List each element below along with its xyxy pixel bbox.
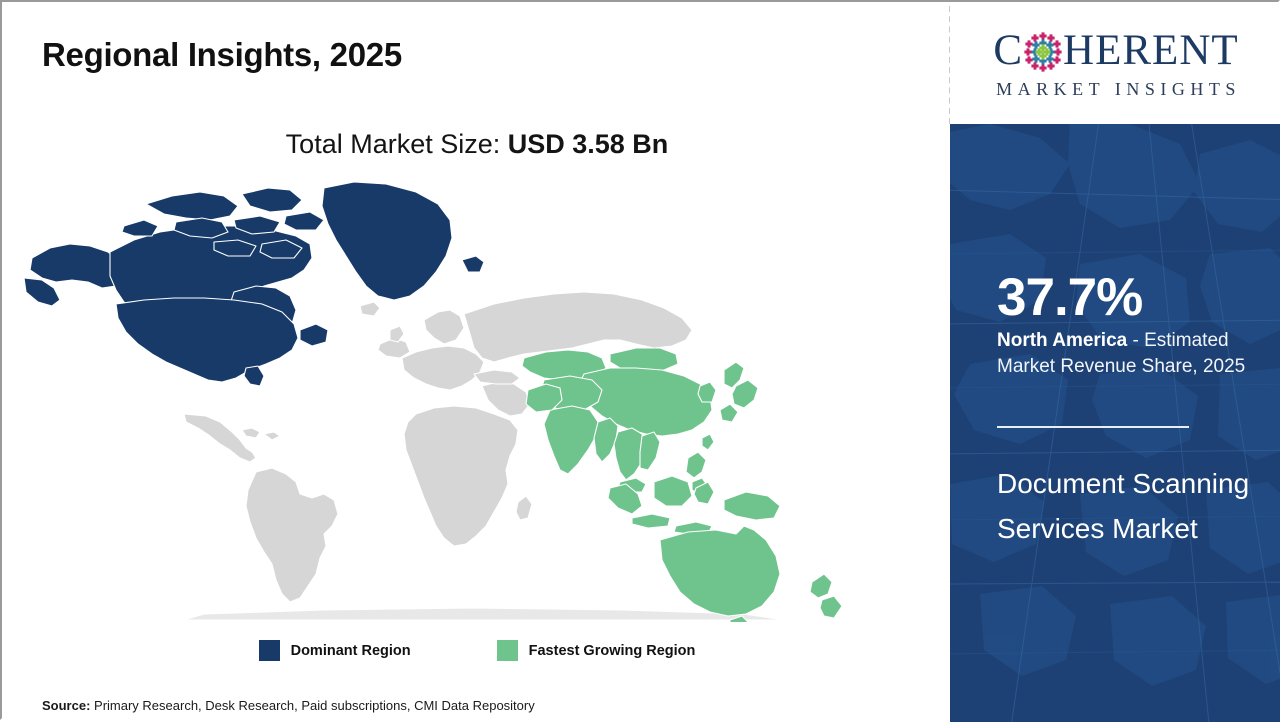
stat-divider-rule [997, 426, 1189, 428]
right-sidebar-panel: C [950, 2, 1280, 722]
total-market-size-label: Total Market Size: [286, 129, 508, 159]
left-content-panel: Regional Insights, 2025 Total Market Siz… [4, 4, 950, 720]
infographic-frame: Regional Insights, 2025 Total Market Siz… [0, 0, 1280, 720]
map-legend: Dominant Region Fastest Growing Region [4, 640, 950, 661]
world-map-svg [24, 182, 904, 622]
stat-panel: 37.7% North America - Estimated Market R… [950, 124, 1280, 722]
logo-wordmark: C [993, 27, 1238, 74]
legend-label-dominant: Dominant Region [291, 643, 411, 659]
world-map-container [24, 182, 904, 622]
dominant-region-swatch [259, 640, 280, 661]
legend-item-fastest-growing: Fastest Growing Region [497, 640, 696, 661]
stat-panel-content: 37.7% North America - Estimated Market R… [950, 124, 1280, 722]
page-title: Regional Insights, 2025 [42, 36, 402, 74]
total-market-size: Total Market Size: USD 3.58 Bn [4, 129, 950, 160]
source-label: Source: [42, 698, 90, 713]
fastest-growing-region-swatch [497, 640, 518, 661]
legend-label-fastest-growing: Fastest Growing Region [529, 643, 696, 659]
logo-tagline: MARKET INSIGHTS [991, 79, 1241, 100]
revenue-share-region: North America [997, 330, 1127, 351]
logo-word-herent: HERENT [1063, 29, 1239, 72]
source-text: Primary Research, Desk Research, Paid su… [90, 698, 534, 713]
revenue-share-description: North America - Estimated Market Revenue… [997, 328, 1263, 380]
revenue-share-percentage: 37.7% [997, 271, 1142, 324]
legend-item-dominant: Dominant Region [259, 640, 411, 661]
source-footer: Source: Primary Research, Desk Research,… [42, 698, 535, 713]
fastest-growing-regions [522, 348, 842, 622]
logo-word-c: C [993, 29, 1023, 72]
logo-container: C [950, 2, 1280, 124]
market-title: Document Scanning Services Market [997, 462, 1265, 552]
total-market-size-value: USD 3.58 Bn [508, 129, 669, 159]
coherent-globe-icon [1024, 32, 1062, 72]
